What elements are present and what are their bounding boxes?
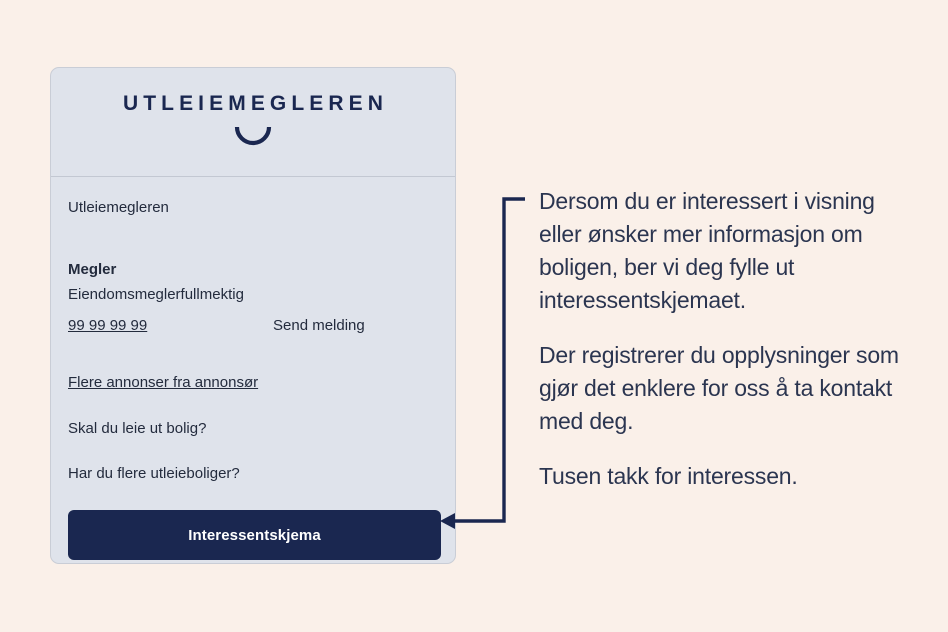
agent-contact-card: UTLEIEMEGLEREN Utleiemegleren Megler Eie… — [50, 67, 456, 564]
agent-role-title: Megler — [68, 261, 438, 279]
agency-name: Utleiemegleren — [68, 199, 438, 217]
annotation-paragraph-2: Der registrerer du opplysninger som gjør… — [539, 339, 907, 438]
multiple-rentals-link[interactable]: Har du flere utleieboliger? — [68, 465, 438, 483]
annotation-paragraph-3: Tusen takk for interessen. — [539, 460, 907, 493]
agent-job-title: Eiendomsmeglerfullmektig — [68, 286, 438, 304]
agent-phone-link[interactable]: 99 99 99 99 — [68, 317, 273, 335]
annotation-paragraph-1: Dersom du er interessert i visning eller… — [539, 185, 907, 317]
annotation-panel: Dersom du er interessert i visning eller… — [539, 185, 907, 493]
smile-arc-icon — [234, 126, 272, 147]
send-message-link[interactable]: Send melding — [273, 317, 365, 335]
brand-wordmark: UTLEIEMEGLEREN — [118, 93, 388, 114]
more-ads-from-advertiser-link[interactable]: Flere annonser fra annonsør — [68, 374, 258, 392]
rent-out-home-link[interactable]: Skal du leie ut bolig? — [68, 420, 438, 438]
interest-form-button[interactable]: Interessentskjema — [68, 510, 441, 560]
card-body: Utleiemegleren Megler Eiendomsmeglerfull… — [51, 177, 455, 560]
card-header: UTLEIEMEGLEREN — [51, 68, 455, 177]
contact-row: 99 99 99 99 Send melding — [68, 317, 438, 335]
